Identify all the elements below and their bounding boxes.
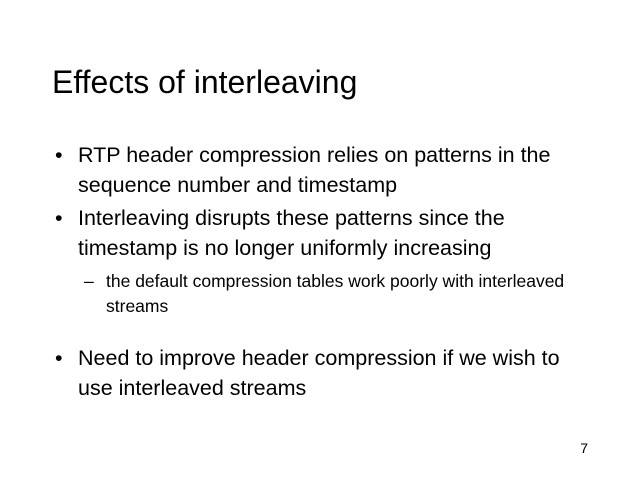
page-number: 7 bbox=[580, 440, 588, 456]
bullet-dot-icon: • bbox=[55, 203, 63, 233]
bullet-list: • RTP header compression relies on patte… bbox=[52, 140, 592, 403]
list-item: • Interleaving disrupts these patterns s… bbox=[52, 203, 592, 263]
list-item-text: Need to improve header compression if we… bbox=[78, 343, 592, 403]
list-spacer bbox=[52, 329, 592, 343]
slide-canvas: Effects of interleaving • RTP header com… bbox=[0, 0, 640, 480]
bullet-dot-icon: • bbox=[55, 140, 63, 170]
bullet-dash-icon: – bbox=[84, 269, 94, 294]
list-item-text: Interleaving disrupts these patterns sin… bbox=[78, 203, 592, 263]
sub-bullet-list: – the default compression tables work po… bbox=[52, 269, 592, 319]
list-item-text: RTP header compression relies on pattern… bbox=[78, 140, 592, 200]
list-item: • RTP header compression relies on patte… bbox=[52, 140, 592, 200]
slide-body: • RTP header compression relies on patte… bbox=[52, 140, 592, 406]
sub-list-item: – the default compression tables work po… bbox=[84, 269, 592, 319]
page-title: Effects of interleaving bbox=[52, 62, 592, 102]
list-item: • Need to improve header compression if … bbox=[52, 343, 592, 403]
bullet-dot-icon: • bbox=[55, 343, 63, 373]
sub-list-item-text: the default compression tables work poor… bbox=[106, 269, 592, 319]
